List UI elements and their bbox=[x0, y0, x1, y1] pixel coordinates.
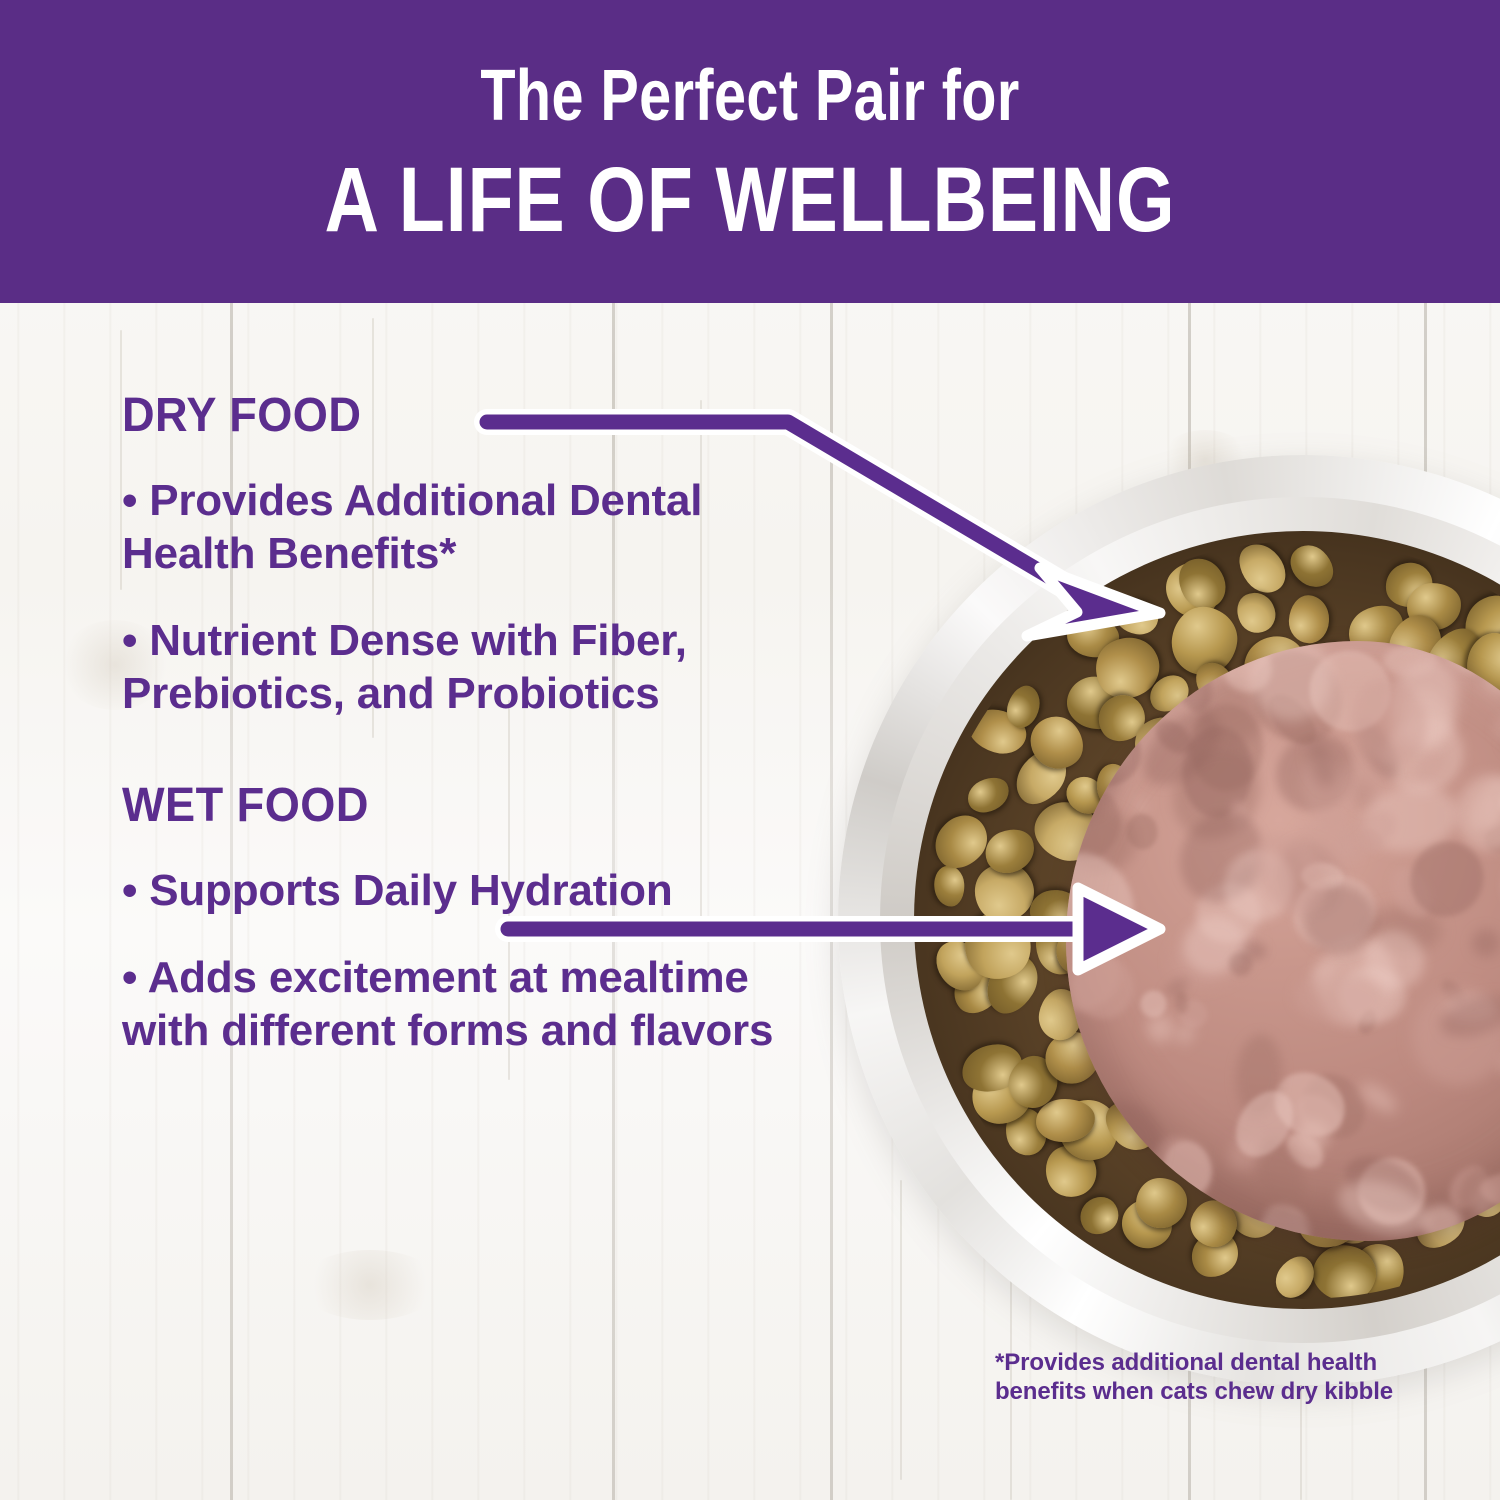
section-dry-food: DRY FOOD • Provides Additional Dental He… bbox=[122, 388, 782, 720]
page-title-line-2: A LIFE OF WELLBEING bbox=[135, 148, 1365, 252]
bullet-dry-food-1: • Provides Additional Dental Health Bene… bbox=[122, 474, 782, 580]
footnote-disclaimer: *Provides additional dental health benef… bbox=[995, 1348, 1415, 1406]
section-wet-food: WET FOOD • Supports Daily Hydration • Ad… bbox=[122, 778, 782, 1057]
section-heading-dry-food: DRY FOOD bbox=[122, 388, 742, 444]
infographic-canvas: The Perfect Pair for A LIFE OF WELLBEING… bbox=[0, 0, 1500, 1500]
bullet-wet-food-2: • Adds excitement at mealtime with diffe… bbox=[122, 951, 782, 1057]
header-banner: The Perfect Pair for A LIFE OF WELLBEING bbox=[0, 0, 1500, 303]
bullet-wet-food-1: • Supports Daily Hydration bbox=[122, 864, 782, 917]
benefits-column: DRY FOOD • Provides Additional Dental He… bbox=[122, 388, 782, 1091]
section-heading-wet-food: WET FOOD bbox=[122, 778, 742, 834]
page-title-line-1: The Perfect Pair for bbox=[150, 54, 1350, 138]
bullet-dry-food-2: • Nutrient Dense with Fiber, Prebiotics,… bbox=[122, 614, 782, 720]
